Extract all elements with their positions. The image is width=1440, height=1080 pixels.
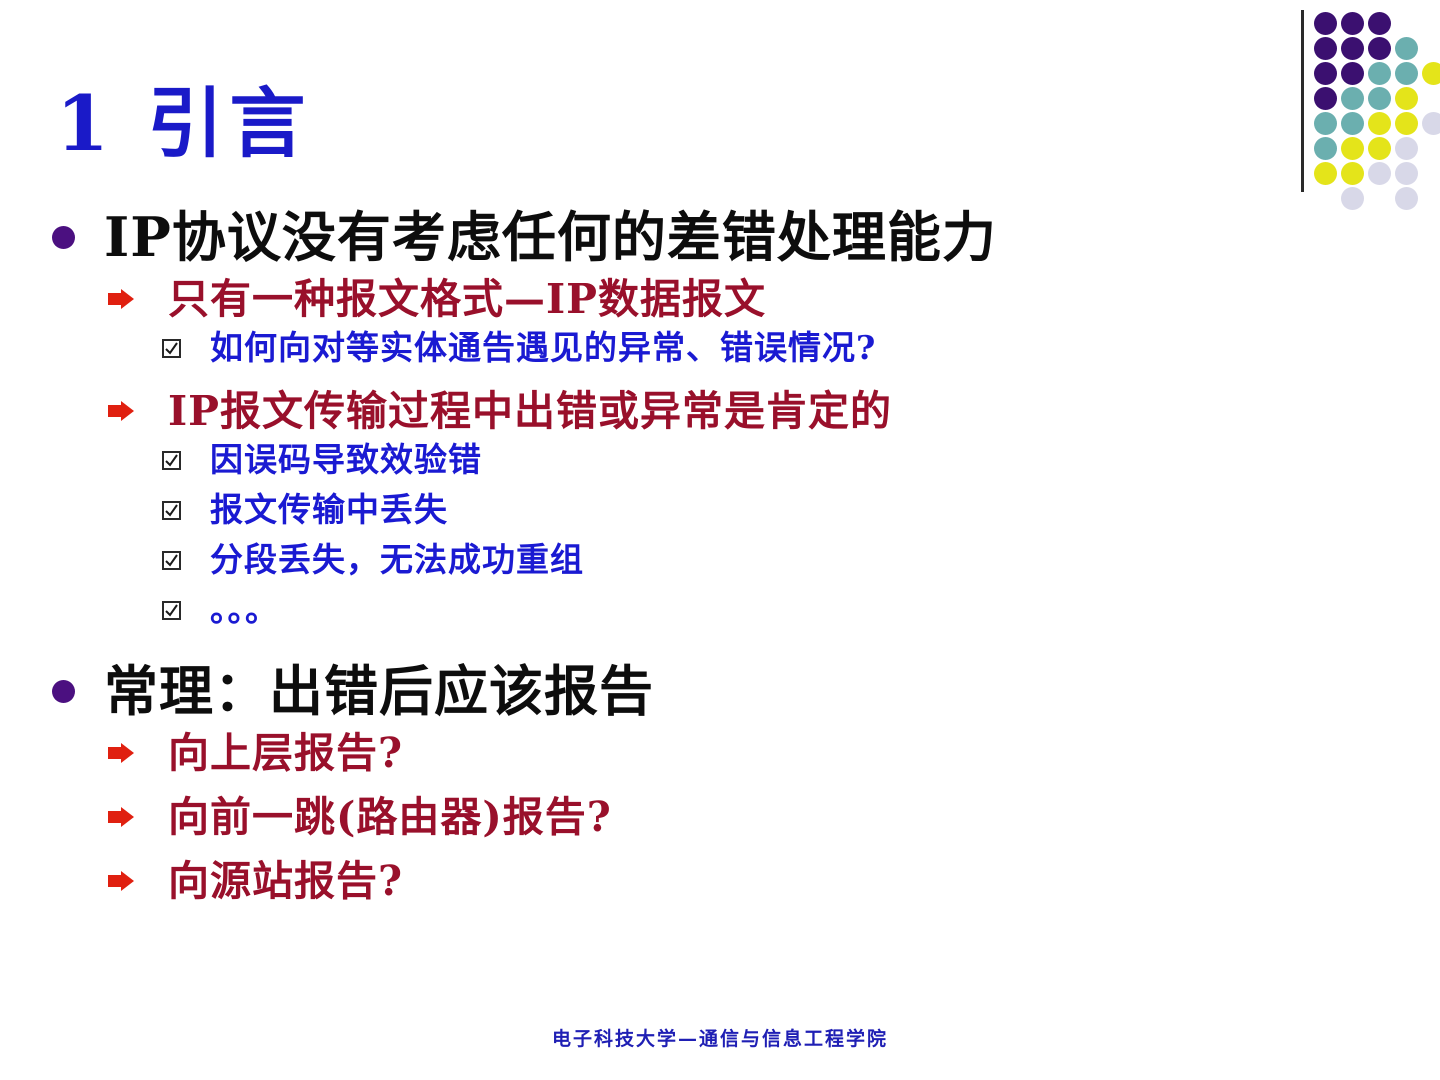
deco-dot-yellow xyxy=(1314,162,1337,185)
arrow-bullet-glyph xyxy=(108,807,134,827)
arrow-bullet-glyph xyxy=(108,743,134,763)
round-bullet-icon xyxy=(52,660,104,722)
list-item-label: 向源站报告? xyxy=(168,856,403,906)
arrow-bullet-icon xyxy=(108,792,168,842)
deco-dot-purple xyxy=(1314,12,1337,35)
deco-dot-yellow xyxy=(1422,62,1440,85)
deco-dot-yellow xyxy=(1395,87,1418,110)
arrow-bullet-glyph xyxy=(108,871,134,891)
list-item[interactable]: 。。。 xyxy=(0,588,1280,632)
list-item-label: 向前一跳(路由器)报告? xyxy=(168,792,612,842)
list-item-label: 如何向对等实体通告遇见的异常、错误情况? xyxy=(210,326,876,370)
arrow-bullet-icon xyxy=(108,274,168,324)
deco-dot-teal xyxy=(1314,112,1337,135)
list-item[interactable]: 报文传输中丢失 xyxy=(0,488,1280,532)
deco-dot-yellow xyxy=(1368,137,1391,160)
list-item[interactable]: 因误码导致效验错 xyxy=(0,438,1280,482)
deco-dot-purple xyxy=(1368,37,1391,60)
footer-text: 电子科技大学—通信与信息工程学院 xyxy=(0,1024,1440,1051)
list-item[interactable]: 如何向对等实体通告遇见的异常、错误情况? xyxy=(0,326,1280,370)
arrow-bullet-glyph xyxy=(108,289,134,309)
list-item-label: IP报文传输过程中出错或异常是肯定的 xyxy=(168,386,892,436)
list-item-label: 报文传输中丢失 xyxy=(210,488,448,532)
checkbox-bullet-icon xyxy=(162,538,210,582)
checkbox-bullet-icon xyxy=(162,488,210,532)
deco-dot-lavender xyxy=(1395,137,1418,160)
deco-dot-teal xyxy=(1395,62,1418,85)
round-bullet-icon xyxy=(52,206,104,268)
deco-dot-purple xyxy=(1314,62,1337,85)
dot-grid-ornament xyxy=(1288,0,1440,205)
slide: 1 引言 IP协议没有考虑任何的差错处理能力 只有一种报文格式—IP数据报文 xyxy=(0,0,1440,1080)
checkbox-bullet-icon xyxy=(162,326,210,370)
outline-list: IP协议没有考虑任何的差错处理能力 只有一种报文格式—IP数据报文 如何向对等实… xyxy=(0,206,1280,908)
deco-dot-teal xyxy=(1314,137,1337,160)
page-title: 1 引言 xyxy=(56,86,311,162)
deco-dot-lavender xyxy=(1395,187,1418,210)
deco-dot-purple xyxy=(1341,12,1364,35)
list-item-label: 因误码导致效验错 xyxy=(210,438,482,482)
list-item-label: 只有一种报文格式—IP数据报文 xyxy=(168,274,766,324)
checkbox-bullet-glyph xyxy=(162,551,181,570)
arrow-bullet-icon xyxy=(108,856,168,906)
spacer xyxy=(0,638,1280,660)
list-item[interactable]: 分段丢失，无法成功重组 xyxy=(0,538,1280,582)
deco-dot-teal xyxy=(1341,112,1364,135)
deco-dot-lavender xyxy=(1422,112,1440,135)
deco-dot-teal xyxy=(1395,37,1418,60)
deco-dot-purple xyxy=(1341,62,1364,85)
list-item[interactable]: 向源站报告? xyxy=(0,856,1280,906)
deco-dot-lavender xyxy=(1368,162,1391,185)
checkbox-bullet-icon xyxy=(162,588,210,632)
list-item-label: 。。。 xyxy=(210,588,279,632)
arrow-bullet-icon xyxy=(108,728,168,778)
deco-dot-purple xyxy=(1368,12,1391,35)
list-item[interactable]: 常理：出错后应该报告 xyxy=(0,660,1280,722)
list-item-label: 常理：出错后应该报告 xyxy=(104,660,654,722)
deco-dot-teal xyxy=(1341,87,1364,110)
deco-dot-teal xyxy=(1368,87,1391,110)
deco-dot-yellow xyxy=(1368,112,1391,135)
list-item-label: 向上层报告? xyxy=(168,728,403,778)
checkbox-bullet-glyph xyxy=(162,501,181,520)
vertical-rule xyxy=(1301,10,1304,192)
deco-dot-purple xyxy=(1314,87,1337,110)
checkbox-bullet-icon xyxy=(162,438,210,482)
list-item[interactable]: IP报文传输过程中出错或异常是肯定的 xyxy=(0,386,1280,436)
checkbox-bullet-glyph xyxy=(162,451,181,470)
checkbox-bullet-glyph xyxy=(162,601,181,620)
list-item-label: IP协议没有考虑任何的差错处理能力 xyxy=(104,206,997,268)
deco-dot-yellow xyxy=(1341,137,1364,160)
arrow-bullet-glyph xyxy=(108,401,134,421)
deco-dot-yellow xyxy=(1395,112,1418,135)
arrow-bullet-icon xyxy=(108,386,168,436)
list-item[interactable]: IP协议没有考虑任何的差错处理能力 xyxy=(0,206,1280,268)
deco-dot-yellow xyxy=(1341,162,1364,185)
checkbox-bullet-glyph xyxy=(162,339,181,358)
deco-dot-lavender xyxy=(1341,187,1364,210)
list-item[interactable]: 只有一种报文格式—IP数据报文 xyxy=(0,274,1280,324)
list-item-label: 分段丢失，无法成功重组 xyxy=(210,538,584,582)
list-item[interactable]: 向上层报告? xyxy=(0,728,1280,778)
list-item[interactable]: 向前一跳(路由器)报告? xyxy=(0,792,1280,842)
deco-dot-lavender xyxy=(1395,162,1418,185)
spacer xyxy=(0,376,1280,386)
deco-dot-purple xyxy=(1314,37,1337,60)
deco-dot-purple xyxy=(1341,37,1364,60)
deco-dot-teal xyxy=(1368,62,1391,85)
